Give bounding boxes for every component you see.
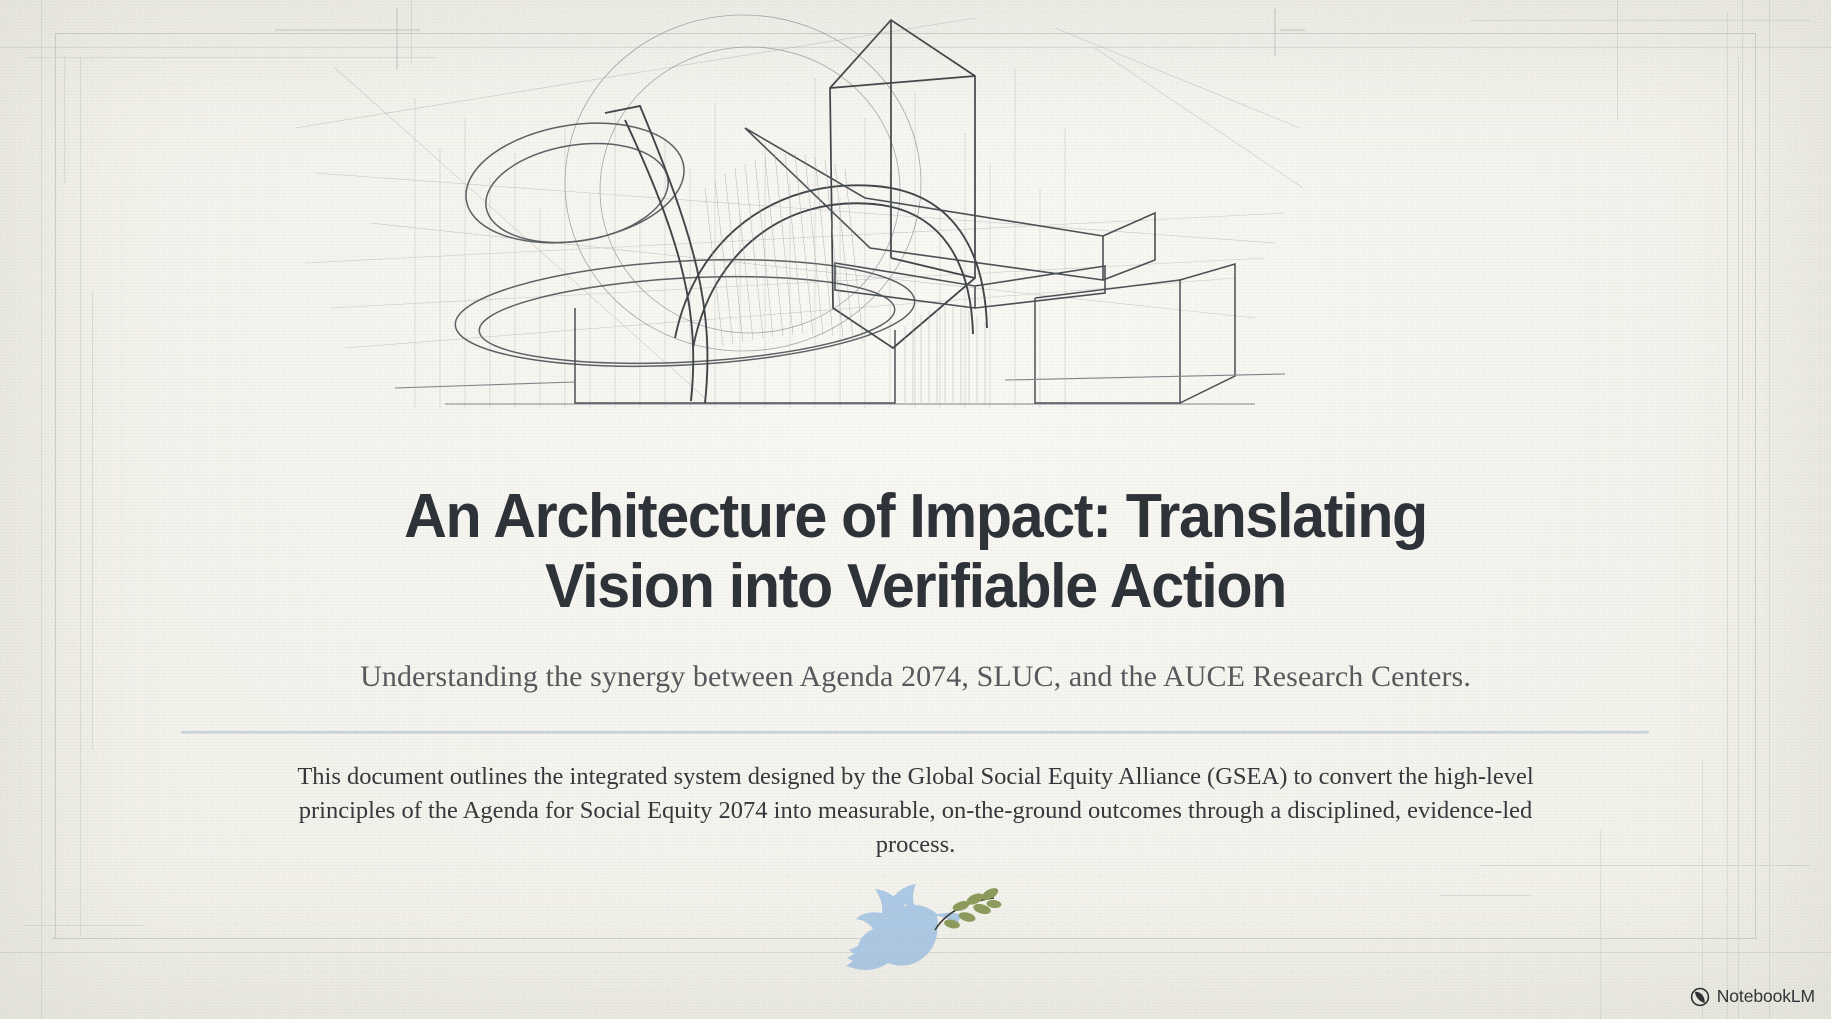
blueprint-line-h: [24, 925, 144, 926]
brand-name: NotebookLM: [1717, 986, 1815, 1007]
notebooklm-logo-icon: [1690, 987, 1710, 1007]
blueprint-line-h: [1470, 20, 1810, 21]
page-title: An Architecture of Impact: Translating V…: [0, 482, 1831, 622]
page-subtitle: Understanding the synergy between Agenda…: [0, 660, 1831, 694]
divider: [181, 731, 1649, 734]
blueprint-line-v: [1702, 760, 1703, 1019]
blueprint-line-v: [1617, 0, 1618, 120]
architectural-blueprint-sketch: [275, 8, 1305, 408]
blueprint-line-v: [1742, 0, 1743, 400]
blueprint-line-v: [1600, 830, 1601, 1019]
title-line-2: Vision into Verifiable Action: [545, 552, 1286, 621]
title-line-1: An Architecture of Impact: Translating: [404, 482, 1427, 551]
slide-canvas: An Architecture of Impact: Translating V…: [0, 0, 1831, 1019]
dove-with-olive-branch-icon: [842, 884, 1002, 976]
body-paragraph: This document outlines the integrated sy…: [285, 760, 1547, 861]
notebooklm-brand: NotebookLM: [1690, 986, 1815, 1007]
blueprint-line-h: [1440, 895, 1530, 896]
blueprint-line-h: [1480, 865, 1810, 866]
blueprint-line-v: [64, 55, 65, 183]
